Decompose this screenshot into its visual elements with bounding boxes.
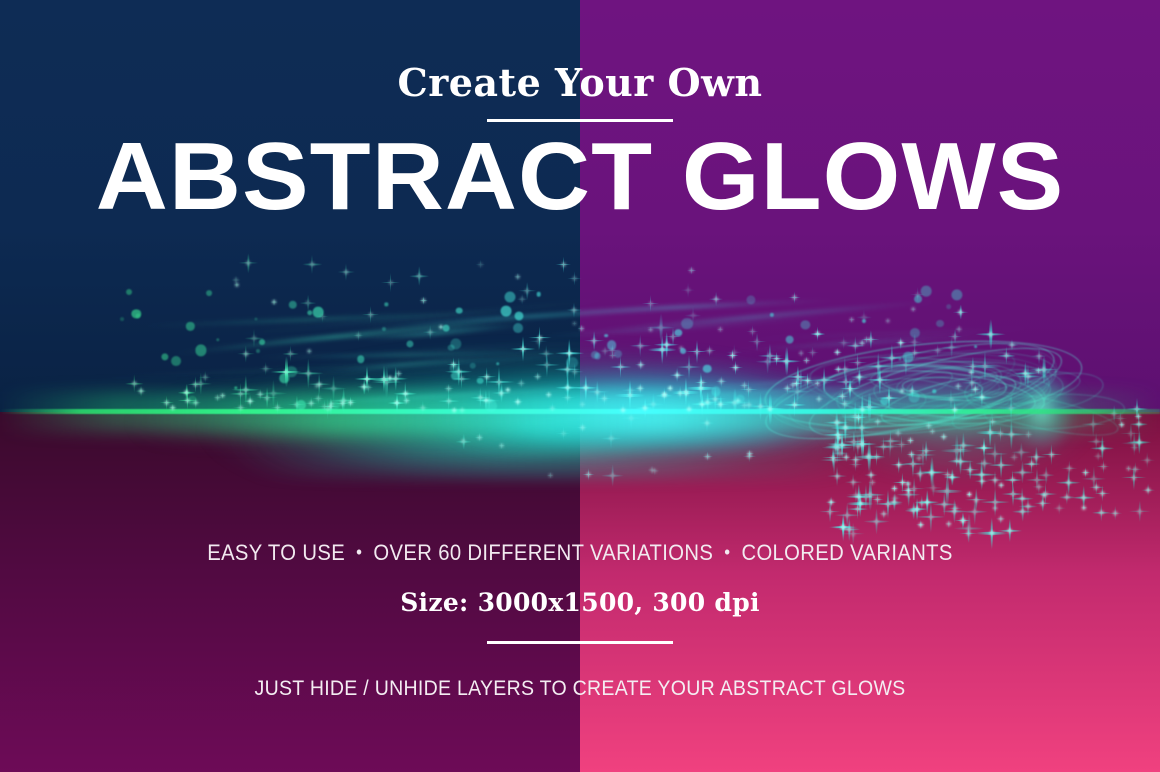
- divider-top: [487, 119, 673, 122]
- divider-bottom: [487, 641, 673, 644]
- footnote-text: JUST HIDE / UNHIDE LAYERS TO CREATE YOUR…: [41, 678, 1120, 699]
- feature-list: EASY TO USE•OVER 60 DIFFERENT VARIATIONS…: [46, 542, 1113, 564]
- feature-item: EASY TO USE: [207, 540, 345, 565]
- feature-separator: •: [724, 543, 730, 561]
- feature-item: OVER 60 DIFFERENT VARIATIONS: [373, 540, 713, 565]
- headline-text: ABSTRACT GLOWS: [0, 128, 1160, 226]
- feature-separator: •: [356, 543, 362, 561]
- eyebrow-text: Create Your Own: [0, 64, 1160, 102]
- size-text: Size: 3000x1500, 300 dpi: [0, 590, 1160, 615]
- feature-item: COLORED VARIANTS: [741, 540, 952, 565]
- poster-text: Create Your Own ABSTRACT GLOWS EASY TO U…: [0, 0, 1160, 772]
- promo-poster: Create Your Own ABSTRACT GLOWS EASY TO U…: [0, 0, 1160, 772]
